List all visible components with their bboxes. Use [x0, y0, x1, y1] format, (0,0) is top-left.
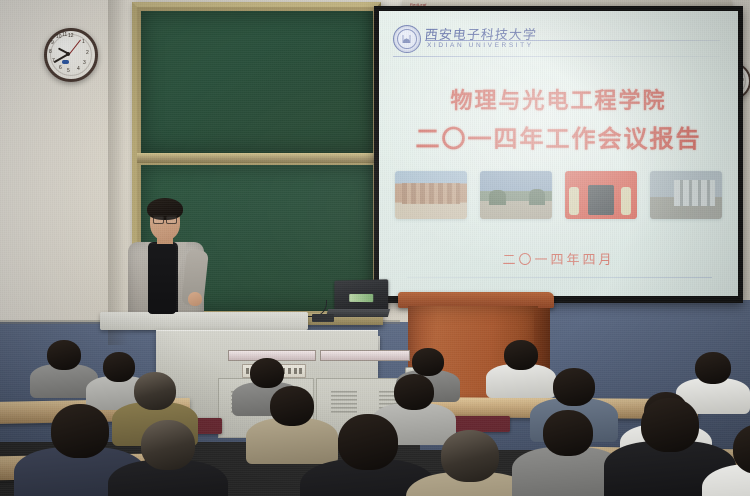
attendee-head	[141, 420, 195, 470]
attendee	[702, 424, 750, 496]
attendee	[108, 420, 228, 496]
attendee-head	[641, 398, 699, 452]
attendee-head	[51, 404, 109, 458]
classroom-photograph: 12 1 2 3 4 5 6 7 8 9 10 11 RedLeaf 12 1	[0, 0, 750, 496]
attendee-head	[441, 430, 499, 482]
attendee-head	[543, 410, 593, 456]
audience-row-front	[0, 0, 750, 496]
attendee-head	[338, 414, 398, 470]
